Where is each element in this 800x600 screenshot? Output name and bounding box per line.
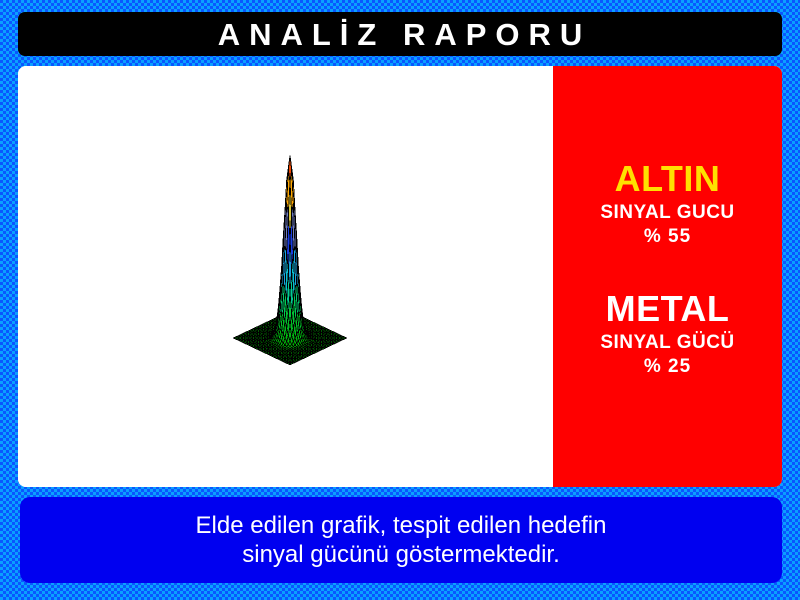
metal-signal-value: % 25 xyxy=(553,357,782,378)
title-bar: ANALİZ RAPORU xyxy=(18,12,782,56)
gold-signal-label: SINYAL GUCU xyxy=(553,203,782,224)
signal-readout-panel: ALTIN SINYAL GUCU % 55 METAL SINYAL GÜCÜ… xyxy=(553,66,782,487)
metal-readout: METAL SINYAL GÜCÜ % 25 xyxy=(553,291,782,378)
metal-name: METAL xyxy=(553,291,782,327)
content-panel: ALTIN SINYAL GUCU % 55 METAL SINYAL GÜCÜ… xyxy=(18,66,782,487)
gold-signal-value: % 55 xyxy=(553,227,782,248)
caption-line-1: Elde edilen grafik, tespit edilen hedefi… xyxy=(196,511,607,540)
gold-readout: ALTIN SINYAL GUCU % 55 xyxy=(553,161,782,248)
caption-line-2: sinyal gücünü göstermektedir. xyxy=(242,540,560,569)
page-title: ANALİZ RAPORU xyxy=(209,19,592,50)
surface-plot-area xyxy=(18,66,553,487)
analysis-report-screen: ANALİZ RAPORU ALTIN SINYAL GUCU % 55 MET… xyxy=(0,0,800,600)
caption-box: Elde edilen grafik, tespit edilen hedefi… xyxy=(20,497,782,583)
metal-signal-label: SINYAL GÜCÜ xyxy=(553,333,782,354)
gold-name: ALTIN xyxy=(553,161,782,197)
gaussian-surface-chart xyxy=(18,66,553,487)
